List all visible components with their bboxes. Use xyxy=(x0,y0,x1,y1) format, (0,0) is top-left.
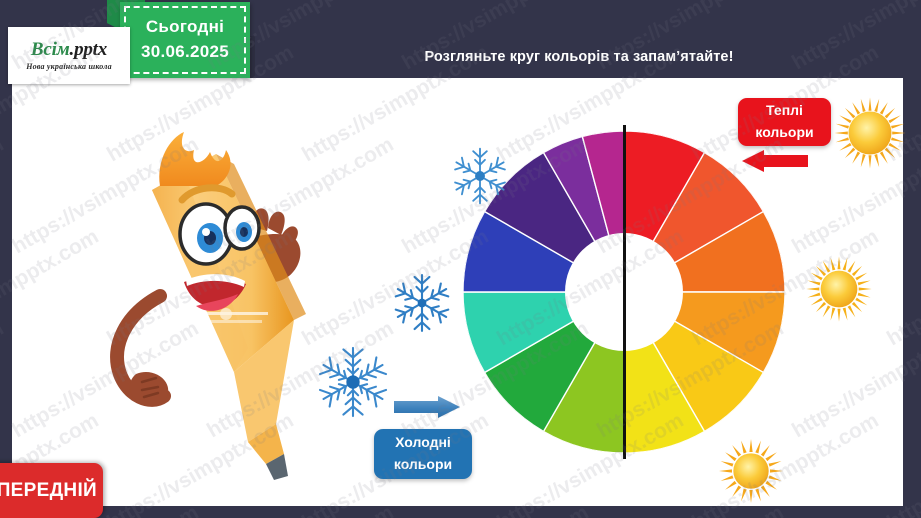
window-right-edge xyxy=(903,0,921,518)
sun-icon xyxy=(717,437,785,505)
cold-colors-label: Холодні кольори xyxy=(374,429,472,479)
previous-slide-button[interactable]: ПОПЕРЕДНІЙ xyxy=(0,463,103,518)
window-bottom-edge xyxy=(0,506,921,518)
cold-label-line2: кольори xyxy=(394,454,452,476)
logo-name-suffix: .pptx xyxy=(70,39,108,60)
slide-stage: Розгляньте круг кольорів та запам’ятайте… xyxy=(0,0,921,518)
date-badge-value: 30.06.2025 xyxy=(141,40,229,65)
sun-icon xyxy=(833,96,907,170)
date-badge: Сьогодні 30.06.2025 xyxy=(120,2,250,78)
arrow-left-icon xyxy=(740,150,808,172)
warm-cold-divider-line xyxy=(623,125,626,459)
brand-logo: Всім.pptx Нова українська школа xyxy=(8,27,130,84)
sun-icon xyxy=(805,255,873,323)
logo-name-prefix: Всім xyxy=(31,39,70,60)
snowflake-icon xyxy=(449,145,511,207)
snowflake-icon xyxy=(316,345,390,419)
warm-colors-label: Теплі кольори xyxy=(738,98,831,146)
warm-label-line2: кольори xyxy=(755,122,813,144)
cold-label-line1: Холодні xyxy=(395,432,451,454)
color-wheel xyxy=(463,131,785,453)
slide-header-banner: Розгляньте круг кольорів та запам’ятайте… xyxy=(255,36,903,78)
logo-subtitle: Нова українська школа xyxy=(26,62,112,71)
logo-wordmark: Всім.pptx xyxy=(31,40,107,59)
warm-label-line1: Теплі xyxy=(766,100,803,122)
date-badge-label: Сьогодні xyxy=(146,15,224,40)
previous-slide-label: ПОПЕРЕДНІЙ xyxy=(0,463,97,518)
snowflake-icon xyxy=(391,272,453,334)
page-title: Розгляньте круг кольорів та запам’ятайте… xyxy=(424,49,733,65)
pencil-mascot-icon xyxy=(98,124,328,484)
arrow-right-icon xyxy=(394,396,462,418)
